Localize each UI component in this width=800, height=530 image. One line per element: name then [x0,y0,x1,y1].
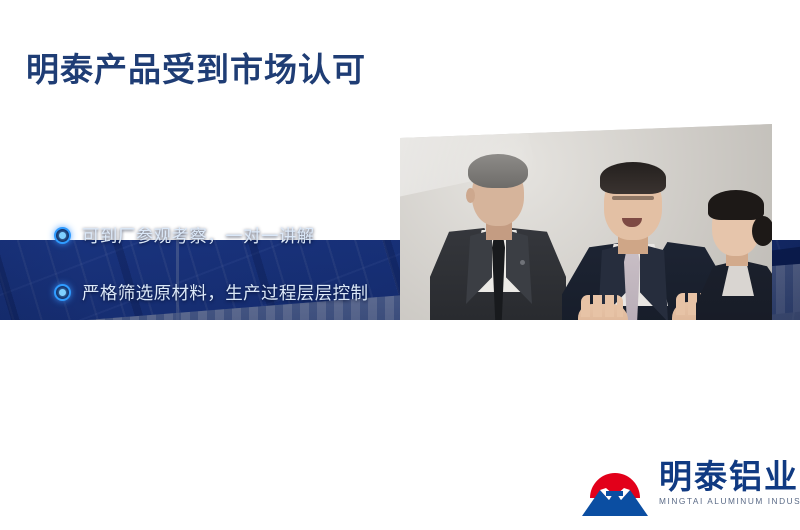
p2-brows [612,196,654,200]
p2-hair [600,162,666,194]
list-item-label: 严格筛选原材料，生产过程层层控制 [82,282,368,304]
page-title: 明泰产品受到市场认可 [26,49,366,91]
list-item: 可到厂参观考察，一对一讲解 [54,207,404,264]
company-name-cn: 明泰铝业 [659,459,800,494]
p3-hair [708,190,764,220]
promotional-banner: 明泰产品受到市场认可 可到厂参观考察，一对一讲解 严格筛选原材料，生产过程层层控… [0,0,800,530]
p1-ear [466,188,475,203]
list-item-label: 可到厂参观考察，一对一讲解 [82,225,315,247]
logo-text-block: 明泰铝业 MINGTAI ALUMINUM INDUSTRY CO., LTD [659,458,800,507]
p1-hair [468,154,528,188]
list-item: 严格筛选原材料，生产过程层层控制 [54,264,404,321]
target-circle-icon [54,284,71,301]
target-circle-icon [54,227,71,244]
company-logo[interactable]: 明泰铝业 MINGTAI ALUMINUM INDUSTRY CO., LTD [578,458,800,520]
p3-hair-bun [752,216,772,246]
company-name-en: MINGTAI ALUMINUM INDUSTRY CO., LTD [659,496,800,507]
p1-lapel-pin [520,260,525,265]
mingtai-sun-mountain-icon [578,458,652,520]
